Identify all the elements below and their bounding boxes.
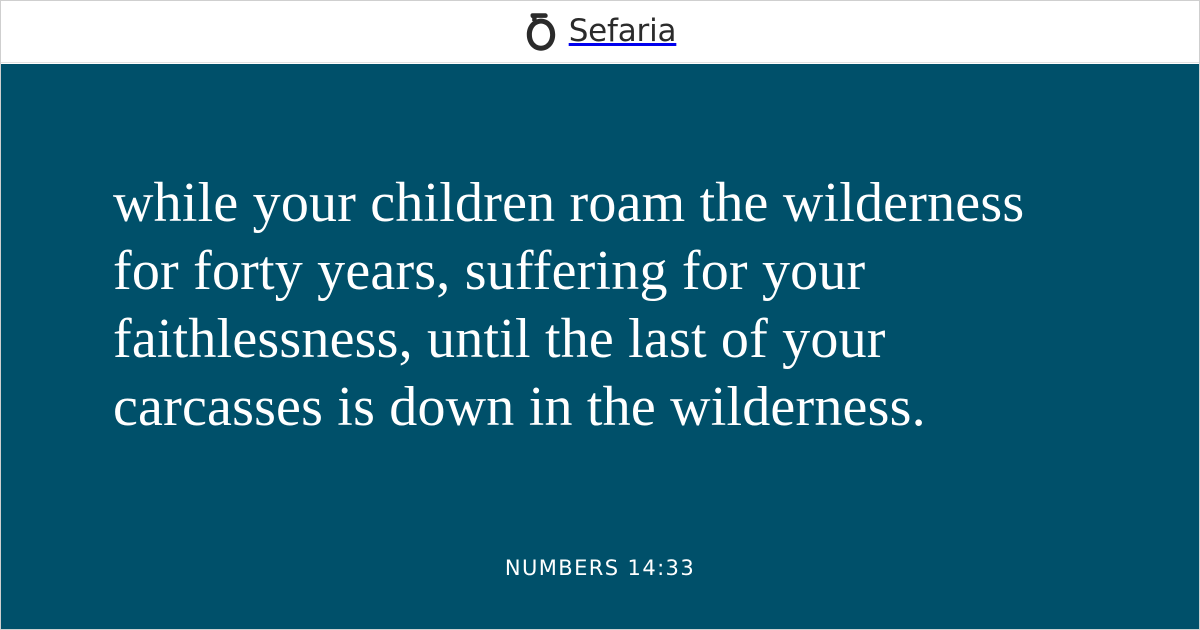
sefaria-quote-card: Sefaria while your children roam the wil… <box>0 0 1200 630</box>
brand-name: Sefaria <box>569 16 677 47</box>
sefaria-samekh-logo-icon <box>524 11 558 52</box>
source-citation: NUMBERS 14:33 <box>1 556 1199 580</box>
sefaria-brand-link[interactable]: Sefaria <box>524 11 677 52</box>
quote-text: while your children roam the wilderness … <box>113 169 1098 441</box>
site-header: Sefaria <box>1 1 1199 63</box>
quote-body: while your children roam the wilderness … <box>1 64 1199 629</box>
